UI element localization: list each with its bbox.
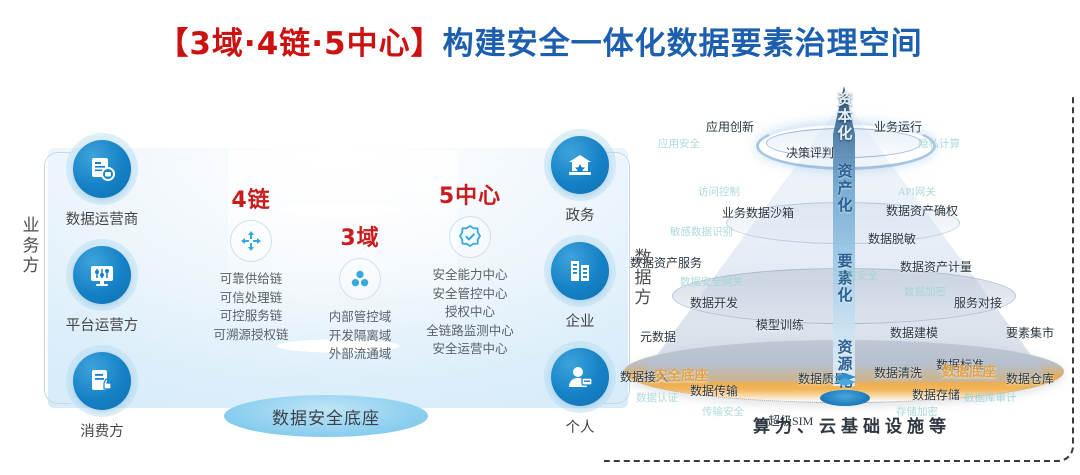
document-hand-icon	[73, 352, 131, 410]
pillar-item: 可信处理链	[196, 289, 306, 308]
role-column-business: 数据运营商	[54, 140, 150, 458]
pillar-item: 授权中心	[410, 303, 530, 322]
monitor-settings-icon	[73, 246, 131, 304]
role-label: 平台运营方	[54, 314, 150, 335]
role-platform-operator[interactable]: 平台运营方	[54, 246, 150, 350]
pillar-item: 可靠供给链	[196, 270, 306, 289]
pillar-item: 安全管控中心	[410, 285, 530, 304]
pillar-item: 外部流通域	[306, 345, 414, 364]
pillar-four-chains: 4链 可靠供给链 可信处理链 可控服务链 可溯源授权链	[196, 182, 306, 344]
pillar-title: 4链	[196, 182, 306, 214]
side-label-business-party: 业务方	[18, 216, 44, 276]
page-title-highlight: 【3域·4链·5中心】	[157, 26, 442, 62]
pillar-item: 开发隔离域	[306, 327, 414, 346]
pillar-item: 全链路监测中心	[410, 322, 530, 341]
person-card-icon	[551, 348, 609, 406]
office-building-icon	[551, 242, 609, 300]
pillar-three-domains: 3域 内部管控域 开发隔离域 外部流通域	[306, 220, 414, 364]
pillar-item: 安全运营中心	[410, 340, 530, 359]
role-data-operator[interactable]: 数据运营商	[54, 140, 150, 244]
pillar-item: 可控服务链	[196, 307, 306, 326]
pillar-title: 5中心	[410, 178, 530, 210]
page-title: 【3域·4链·5中心】构建安全一体化数据要素治理空间	[0, 18, 1080, 63]
role-label: 消费方	[54, 420, 150, 441]
pillar-item: 内部管控域	[306, 308, 414, 327]
page-title-rest: 构建安全一体化数据要素治理空间	[443, 26, 923, 62]
shield-check-star-icon	[449, 216, 491, 258]
role-label: 数据运营商	[54, 208, 150, 229]
data-document-icon	[73, 140, 131, 198]
infographic-root: 【3域·4链·5中心】构建安全一体化数据要素治理空间 业务方 数据方	[0, 0, 1080, 475]
pillar-five-centers: 5中心 安全能力中心 安全管控中心 授权中心 全链路监测中心 安全运营中心	[410, 178, 530, 359]
base-pill-label: 数据安全底座	[272, 404, 380, 429]
dashed-frame-border	[604, 96, 1074, 462]
three-nodes-icon	[339, 258, 381, 300]
government-building-icon	[551, 136, 609, 194]
pillar-title: 3域	[306, 220, 414, 252]
data-security-foundation-badge: 数据安全底座	[224, 395, 428, 437]
converge-arrows-icon	[230, 220, 272, 262]
role-consumer[interactable]: 消费方	[54, 352, 150, 456]
pillar-item: 安全能力中心	[410, 266, 530, 285]
pillar-item: 可溯源授权链	[196, 326, 306, 345]
